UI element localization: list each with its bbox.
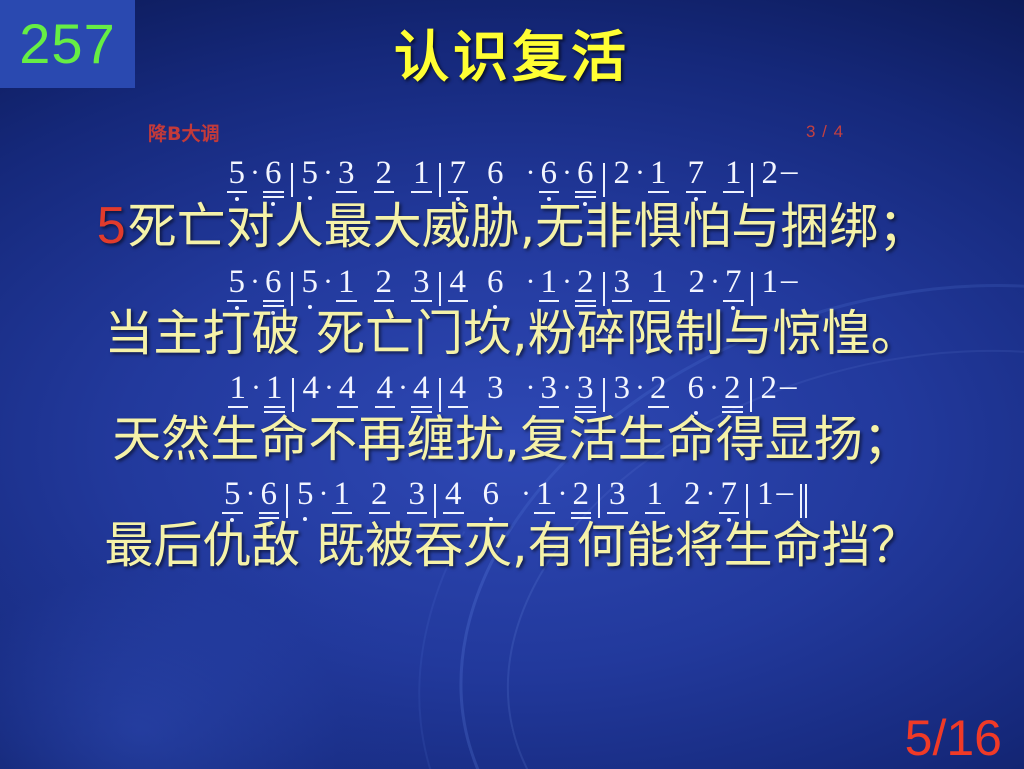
page-title: 认识复活 [0,30,1024,85]
page-counter: 5/16 [905,713,1002,763]
note: 3 [539,372,560,415]
note: 7 [719,478,740,521]
note: 5 [300,157,321,200]
note-degree: 6 [265,266,282,299]
note: 3 [336,157,357,200]
note-degree: 1 [266,372,283,405]
note: 1 [534,478,555,521]
measure: 1·1 [228,372,285,415]
measure: 312·7 [612,266,744,309]
note-degree: 6 [577,157,594,190]
note-degree: 3 [541,372,558,405]
note-degree: 5 [229,266,246,299]
note-degree: 6 [487,266,504,299]
note: 2 [760,157,781,200]
note-degree: 6 [261,478,278,511]
measure: 46·1·2 [443,478,591,521]
note: 5 [295,478,316,521]
note: 4 [375,372,396,415]
note-degree: 2 [371,478,388,511]
augmentation-dot-icon: · [559,158,575,200]
lyric-text: 最后仇敌 既被吞灭,有何能将生命挡？ [104,517,919,574]
measure: 5·6 [227,266,284,309]
note-degree: 4 [377,372,394,405]
augmentation-dot-icon: · [559,373,575,415]
measure: 5·123 [295,478,427,521]
note: 4 [337,372,358,415]
note: 2 [374,266,395,309]
measure: 1– [760,264,798,309]
lyric-line: 天然生命不再缠扰,复活生命得显扬； [0,415,1024,465]
lyric-text: 当主打破 死亡门坎,粉碎限制与惊惶。 [104,305,919,362]
notation-line: 5·65·32176·6·62·1712– [0,150,1024,200]
final-barline-icon [800,484,802,518]
measure: 43·3·3 [448,372,596,415]
note: 1 [332,478,353,521]
barline-icon [439,163,441,197]
note: 1 [228,372,249,415]
note: 5 [222,478,243,521]
note-extension-dash: – [780,264,798,309]
note: 2 [575,266,596,309]
barline-icon [751,272,753,306]
measure: 312·7 [607,478,739,521]
note: 1 [264,372,285,415]
stanza: 5·65·12346·1·2312·71–最后仇敌 既被吞灭,有何能将生命挡？ [0,471,1024,571]
note-degree: 3 [409,478,426,511]
note-degree: 4 [450,372,467,405]
note-degree: 2 [689,266,706,299]
note-degree: 6 [541,157,558,190]
note: 4 [443,478,464,521]
measure: 2– [760,155,798,200]
time-signature: 3 / 4 [806,122,844,142]
note-degree: 3 [577,372,594,405]
note: 5 [227,266,248,309]
note-extension-dash: – [776,476,794,521]
measure: 5·321 [300,157,432,200]
barline-icon [598,484,600,518]
augmentation-dot-icon: · [320,158,336,200]
notation-line: 1·14·44·443·3·33·26·22– [0,365,1024,415]
note: 2 [759,372,780,415]
note: 6 [263,266,284,309]
note: 2 [682,478,703,521]
lyric-line: 5死亡对人最大威胁,无非惧怕与捆绑； [0,200,1024,253]
barline-icon [291,272,293,306]
stanza-list: 5·65·32176·6·62·1712–5死亡对人最大威胁,无非惧怕与捆绑；5… [0,150,1024,577]
stanza: 5·65·32176·6·62·1712–5死亡对人最大威胁,无非惧怕与捆绑； [0,150,1024,253]
note: 1 [723,157,744,200]
note: 6 [259,478,280,521]
lyric-text: 天然生命不再缠扰,复活生命得显扬； [112,411,912,468]
note-degree: 7 [688,157,705,190]
note: 2 [369,478,390,521]
note: 3 [612,372,633,415]
augmentation-dot-icon: · [316,479,332,521]
note: 7 [723,266,744,309]
note-degree: 5 [302,266,319,299]
note-degree: 1 [762,266,779,299]
augmentation-dot-icon: · [321,373,337,415]
note: 2 [722,372,743,415]
note-degree: 2 [684,478,701,511]
note-degree: 3 [413,266,430,299]
stanza: 5·65·12346·1·2312·71–当主打破 死亡门坎,粉碎限制与惊惶。 [0,259,1024,359]
note: 1 [648,157,669,200]
note-degree: 2 [650,372,667,405]
note: 1 [539,266,560,309]
note-degree: 2 [761,372,778,405]
measure: 46·1·2 [448,266,596,309]
key-signature: 降B大调 [148,119,219,146]
note-degree: 1 [536,478,553,511]
augmentation-dot-icon: · [632,158,648,200]
note-degree: 2 [573,478,590,511]
augmentation-dot-icon: · [247,267,263,309]
note: 1 [755,478,776,521]
lyric-text: 死亡对人最大威胁,无非惧怕与捆绑； [128,198,928,255]
lyric-line: 当主打破 死亡门坎,粉碎限制与惊惶。 [0,309,1024,359]
measure: 1– [755,476,793,521]
barline-icon [751,163,753,197]
note: 6 [575,157,596,200]
note-degree: 7 [725,266,742,299]
note-degree: 3 [338,157,355,190]
note-degree: 3 [614,372,631,405]
note: 3 [575,372,596,415]
note: 2 [612,157,633,200]
note: 6 [481,478,502,521]
barline-icon [292,378,294,412]
measure: 2·171 [612,157,744,200]
note-degree: 1 [230,372,247,405]
barline-icon [603,272,605,306]
barline-icon [434,484,436,518]
note: 1 [649,266,670,309]
note-degree: 1 [413,157,430,190]
note-degree: 1 [725,157,742,190]
note: 6 [263,157,284,200]
note: 5 [300,266,321,309]
note-extension-dash: – [779,370,797,415]
note-degree: 5 [224,478,241,511]
note: 7 [448,157,469,200]
note-degree: 1 [338,266,355,299]
note: 3 [607,478,628,521]
note-degree: 6 [487,157,504,190]
note-degree: 6 [688,372,705,405]
notation-line: 5·65·12346·1·2312·71– [0,259,1024,309]
measure: 2– [759,370,797,415]
note: 2 [571,478,592,521]
augmentation-dot-icon: · [523,267,539,309]
measure: 5·6 [227,157,284,200]
note-degree: 1 [647,478,664,511]
measure: 76·6·6 [448,157,596,200]
note-degree: 2 [762,157,779,190]
measure: 5·123 [300,266,432,309]
note-degree: 1 [757,478,774,511]
verse-number: 5 [97,197,126,255]
augmentation-dot-icon: · [632,373,648,415]
augmentation-dot-icon: · [518,479,534,521]
note: 6 [485,266,506,309]
hymn-slide: 257 认识复活 降B大调 3 / 4 5·65·32176·6·62·1712… [0,0,1024,769]
note-degree: 5 [229,157,246,190]
note: 1 [411,157,432,200]
augmentation-dot-icon: · [523,158,539,200]
note-degree: 3 [609,478,626,511]
augmentation-dot-icon: · [247,158,263,200]
note: 4 [448,266,469,309]
notation-line: 5·65·12346·1·2312·71– [0,471,1024,521]
note: 6 [485,157,506,200]
note-degree: 1 [651,266,668,299]
barline-icon [439,272,441,306]
augmentation-dot-icon: · [555,479,571,521]
barline-icon [439,378,441,412]
augmentation-dot-icon: · [523,373,539,415]
note-degree: 5 [302,157,319,190]
note-degree: 4 [450,266,467,299]
note-degree: 7 [450,157,467,190]
barline-icon [291,163,293,197]
note-degree: 4 [445,478,462,511]
note: 2 [687,266,708,309]
measure: 5·6 [222,478,279,521]
note-degree: 2 [376,266,393,299]
barline-icon [746,484,748,518]
augmentation-dot-icon: · [703,479,719,521]
note: 1 [336,266,357,309]
note-degree: 3 [487,372,504,405]
measure: 3·26·2 [612,372,743,415]
note: 1 [760,266,781,309]
lyric-line: 最后仇敌 既被吞灭,有何能将生命挡？ [0,521,1024,571]
barline-icon [286,484,288,518]
barline-icon [603,378,605,412]
note-extension-dash: – [780,155,798,200]
measure: 4·44·4 [301,372,432,415]
augmentation-dot-icon: · [706,373,722,415]
note-degree: 2 [614,157,631,190]
note: 7 [686,157,707,200]
note: 4 [301,372,322,415]
augmentation-dot-icon: · [243,479,259,521]
note-degree: 4 [413,372,430,405]
note: 3 [411,266,432,309]
note: 4 [448,372,469,415]
note-degree: 7 [721,478,738,511]
note-degree: 2 [724,372,741,405]
note: 5 [227,157,248,200]
augmentation-dot-icon: · [320,267,336,309]
note-degree: 6 [483,478,500,511]
note: 4 [411,372,432,415]
barline-icon [750,378,752,412]
note-degree: 6 [265,157,282,190]
augmentation-dot-icon: · [707,267,723,309]
note-degree: 2 [376,157,393,190]
note-degree: 3 [614,266,631,299]
note-degree: 4 [303,372,320,405]
stanza: 1·14·44·443·3·33·26·22–天然生命不再缠扰,复活生命得显扬； [0,365,1024,465]
augmentation-dot-icon: · [559,267,575,309]
note: 3 [407,478,428,521]
note-degree: 1 [541,266,558,299]
note-degree: 2 [577,266,594,299]
note: 2 [648,372,669,415]
note: 3 [612,266,633,309]
note-degree: 1 [650,157,667,190]
barline-icon [603,163,605,197]
augmentation-dot-icon: · [248,373,264,415]
note: 2 [374,157,395,200]
note: 6 [686,372,707,415]
note-degree: 1 [334,478,351,511]
note-degree: 4 [339,372,356,405]
augmentation-dot-icon: · [395,373,411,415]
note-degree: 5 [297,478,314,511]
note: 3 [485,372,506,415]
note: 6 [539,157,560,200]
note: 1 [645,478,666,521]
